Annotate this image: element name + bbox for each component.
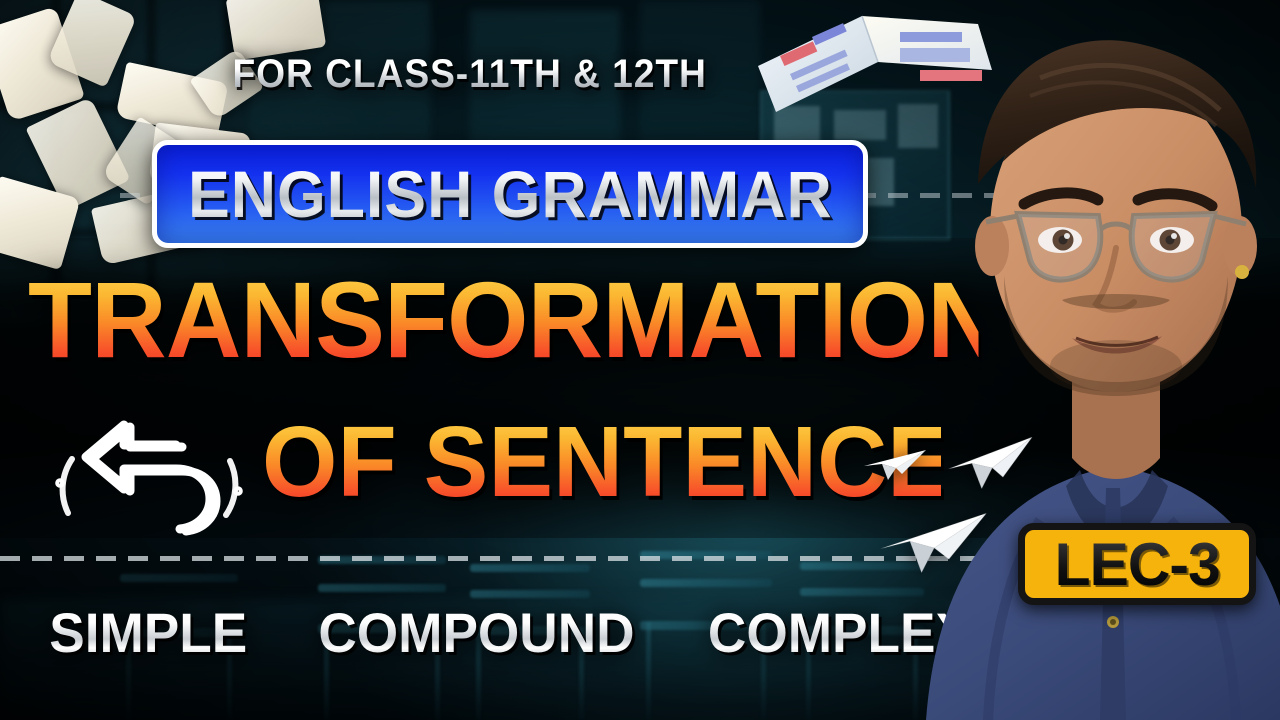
bottom-keywords-row: SIMPLE COMPOUND COMPLEX [44, 600, 984, 665]
banner-label: ENGLISH GRAMMAR [188, 156, 833, 232]
main-title-line2: OF SENTENCE [262, 412, 941, 512]
lecture-number-badge: LEC-3 [1018, 523, 1256, 605]
presenter-portrait [920, 0, 1280, 720]
lecture-number-label: LEC-3 [1054, 530, 1219, 599]
english-grammar-banner: ENGLISH GRAMMAR [152, 140, 868, 248]
main-title-line1: TRANSFORMATION [28, 268, 979, 372]
thumbnail-canvas: FOR CLASS-11TH & 12TH ENGLISH GRAMMAR TR… [0, 0, 1280, 720]
paper-airplane-icon [862, 448, 928, 482]
keyword-simple: SIMPLE [49, 600, 247, 665]
keyword-compound: COMPOUND [319, 600, 635, 665]
transform-exchange-arrows-icon [30, 405, 268, 570]
